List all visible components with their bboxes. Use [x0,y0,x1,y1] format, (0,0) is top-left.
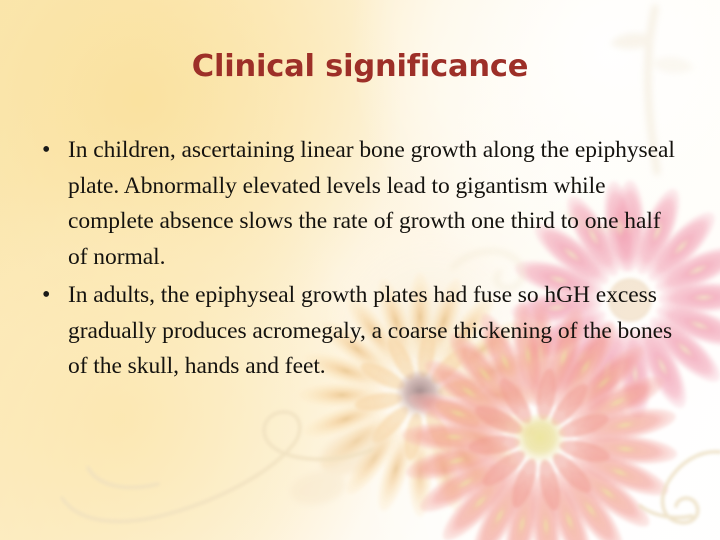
bullet-icon: • [38,133,68,169]
page-title: Clinical significance [0,49,720,84]
bullet-list: • In children, ascertaining linear bone … [38,133,684,387]
list-item-text: In children, ascertaining linear bone gr… [68,133,684,275]
slide-canvas: Clinical significance • In children, asc… [0,0,720,540]
list-item: • In adults, the epiphyseal growth plate… [38,278,684,385]
list-item: • In children, ascertaining linear bone … [38,133,684,275]
bullet-icon: • [38,278,68,314]
list-item-text: In adults, the epiphyseal growth plates … [68,278,684,385]
